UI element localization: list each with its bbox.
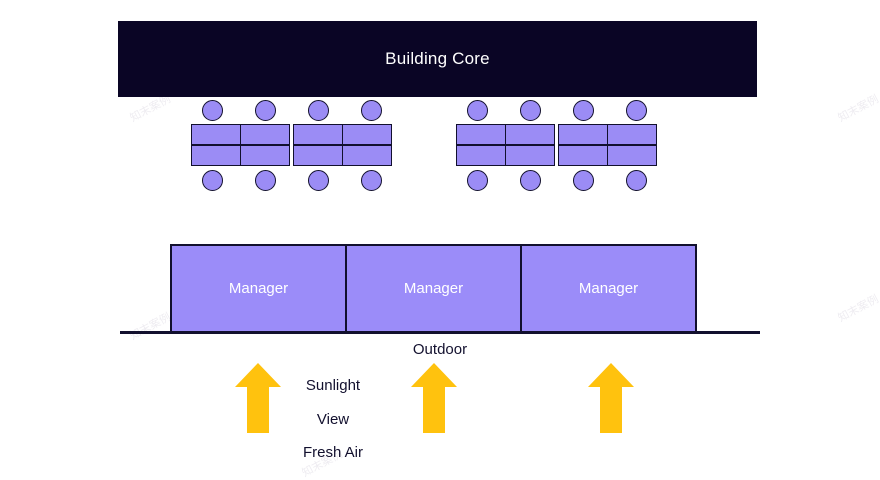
benefit-label-fresh-air: Fresh Air: [253, 444, 413, 461]
desk-cell: [559, 125, 607, 144]
manager-office-1: Manager: [170, 244, 347, 333]
chair-icon: [626, 170, 647, 191]
view-arrow-icon: [411, 363, 457, 433]
desk-block: [293, 124, 392, 166]
desk-row: [191, 124, 393, 166]
desk-cell: [559, 146, 607, 165]
desk-cell: [294, 125, 342, 144]
fresh-air-arrow-icon: [588, 363, 634, 433]
facade-line: [120, 331, 760, 334]
chair-icon: [520, 100, 541, 121]
workstation-cluster-left: [191, 100, 393, 192]
manager-label: Manager: [404, 280, 463, 297]
chair-row-top: [191, 100, 393, 122]
chair-icon: [361, 170, 382, 191]
benefit-label-sunlight: Sunlight: [253, 377, 413, 394]
chair-icon: [255, 170, 276, 191]
building-core-label: Building Core: [385, 49, 490, 69]
manager-office-row: Manager Manager Manager: [170, 244, 697, 333]
benefit-label-view: View: [253, 411, 413, 428]
manager-office-2: Manager: [345, 244, 522, 333]
chair-icon: [467, 170, 488, 191]
chair-icon: [361, 100, 382, 121]
desk-block: [558, 124, 657, 166]
chair-row-top: [456, 100, 658, 122]
manager-label: Manager: [579, 280, 638, 297]
chair-icon: [308, 100, 329, 121]
chair-icon: [255, 100, 276, 121]
desk-block: [191, 124, 290, 166]
chair-icon: [573, 170, 594, 191]
desk-block: [456, 124, 555, 166]
chair-icon: [573, 100, 594, 121]
manager-label: Manager: [229, 280, 288, 297]
chair-icon: [308, 170, 329, 191]
chair-icon: [202, 100, 223, 121]
desk-cell: [457, 125, 505, 144]
desk-cell: [241, 146, 289, 165]
watermark: 知末案例: [835, 291, 880, 326]
manager-office-3: Manager: [520, 244, 697, 333]
desk-cell: [241, 125, 289, 144]
desk-cell: [608, 146, 656, 165]
outdoor-label: Outdoor: [0, 341, 880, 358]
desk-cell: [294, 146, 342, 165]
chair-row-bottom: [191, 170, 393, 192]
desk-row: [456, 124, 658, 166]
chair-row-bottom: [456, 170, 658, 192]
desk-cell: [457, 146, 505, 165]
chair-icon: [202, 170, 223, 191]
chair-icon: [467, 100, 488, 121]
desk-cell: [343, 125, 391, 144]
desk-cell: [192, 146, 240, 165]
chair-icon: [626, 100, 647, 121]
desk-cell: [608, 125, 656, 144]
diagram-canvas: 知末案例 知末案例 知末案例 知末案例 知末案例 知末案例 Building C…: [0, 0, 880, 472]
desk-cell: [506, 146, 554, 165]
watermark: 知末案例: [835, 91, 880, 126]
desk-cell: [343, 146, 391, 165]
building-core-zone: Building Core: [118, 21, 757, 97]
chair-icon: [520, 170, 541, 191]
desk-cell: [192, 125, 240, 144]
watermark: 知末案例: [127, 309, 173, 344]
desk-cell: [506, 125, 554, 144]
workstation-cluster-right: [456, 100, 658, 192]
